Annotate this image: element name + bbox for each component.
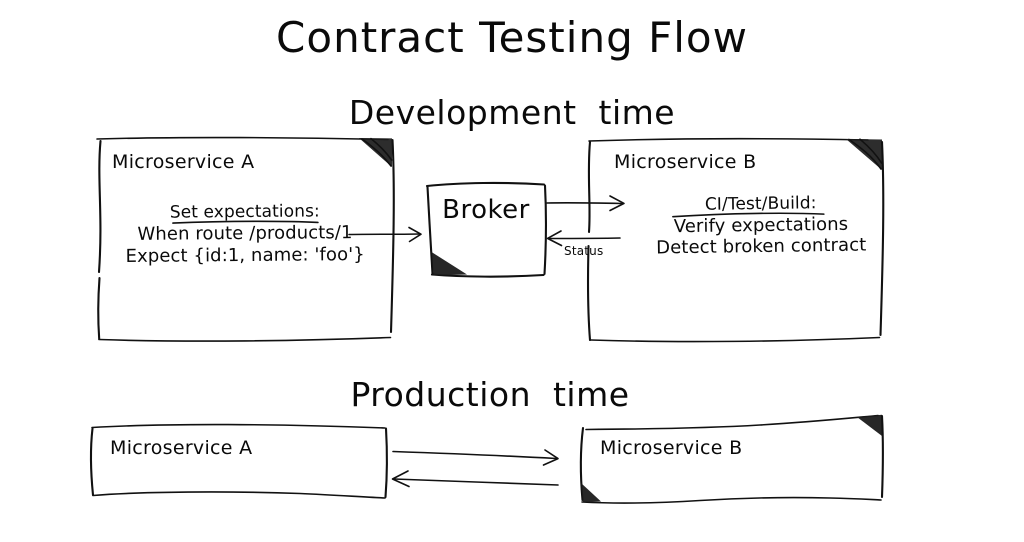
broker-box[interactable]: Broker	[427, 183, 546, 277]
dev-b-note-heading: CI/Test/Build:	[705, 193, 817, 215]
connector-prod-a-to-b	[393, 450, 558, 465]
section-heading-development: Development time	[349, 93, 675, 132]
dev-a-note-line-1: When route /products/1	[137, 222, 352, 245]
diagram-sketch: Contract Testing Flow Development time M…	[0, 0, 1024, 542]
dev-microservice-a-label: Microservice A	[112, 151, 254, 173]
dev-microservice-a-note: Set expectations: When route /products/1…	[125, 201, 365, 267]
prod-microservice-a-box[interactable]	[91, 425, 387, 498]
whiteboard-canvas: Contract Testing Flow Development time M…	[0, 0, 1024, 542]
dev-microservice-b-note: CI/Test/Build: Verify expectations Detec…	[656, 193, 867, 259]
connector-b-to-broker-status: Status	[548, 231, 621, 258]
dev-a-note-line-2: Expect {id:1, name: 'foo'}	[125, 244, 364, 267]
dev-b-note-line-1: Verify expectations	[674, 214, 849, 237]
broker-label: Broker	[442, 195, 530, 225]
prod-microservice-b-label: Microservice B	[600, 437, 742, 459]
page-title: Contract Testing Flow	[276, 13, 748, 62]
connector-prod-b-to-a	[393, 471, 559, 487]
prod-microservice-a-label: Microservice A	[110, 437, 252, 459]
connector-broker-to-b	[547, 196, 624, 211]
section-heading-production: Production time	[350, 375, 629, 414]
connector-status-label: Status	[564, 244, 603, 258]
dev-b-note-line-2: Detect broken contract	[656, 235, 866, 259]
connector-a-to-broker	[349, 228, 421, 242]
dev-microservice-b-label: Microservice B	[614, 151, 756, 173]
dev-a-note-heading: Set expectations:	[170, 201, 320, 222]
